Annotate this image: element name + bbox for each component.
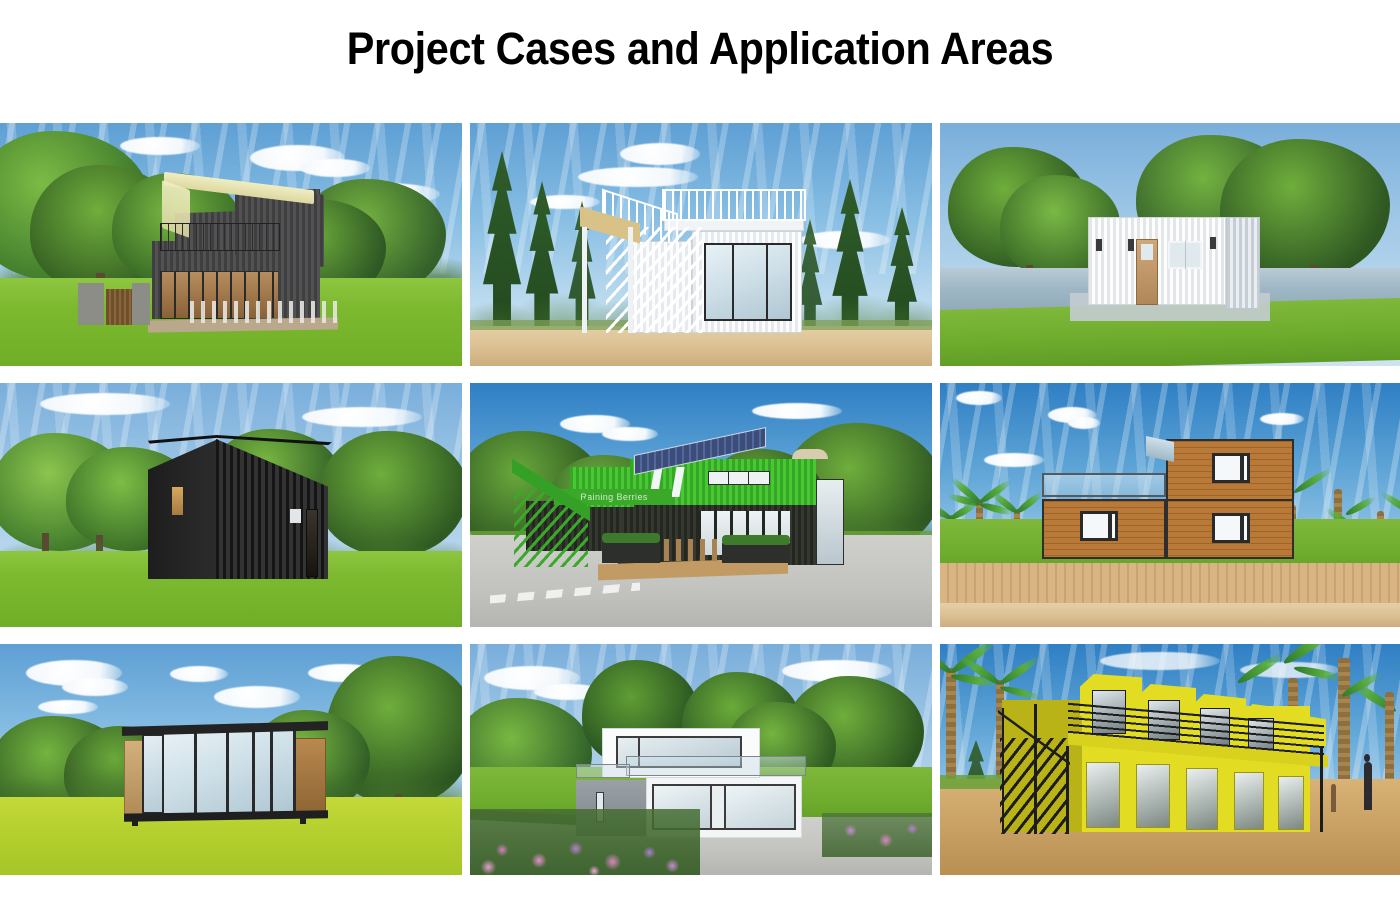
wall-fixture [1128,239,1134,251]
container-end-doors [1226,217,1260,309]
support-column [1066,746,1069,834]
gallery-image-4[interactable] [0,383,462,627]
window-mullion [1185,241,1186,269]
cloud [1260,413,1304,425]
cloud [302,407,422,427]
glass-wall-right [724,784,796,830]
planter-greenery [602,533,660,543]
window-upper [1212,453,1250,483]
gallery-image-9[interactable] [940,644,1400,875]
cloud [956,391,1002,405]
foot [300,816,306,824]
corner-glass [142,734,164,814]
glass-mullion [226,730,229,814]
scene-black-gable-house [0,383,462,627]
cloud [602,427,658,441]
door-mullion [766,243,768,321]
window-lower-right [1212,513,1250,543]
scene-glass-prefab-house [0,644,462,875]
foot [132,818,138,826]
ground-window [1086,762,1120,828]
wall-fixture [1096,239,1102,251]
terrace-railing-left [576,764,630,778]
ribbon-window [708,471,770,485]
cafe-chairs [664,539,720,561]
scene-container-cafe: Raining Berries [470,383,932,627]
cloud [214,686,300,708]
scene-container-office-unit [940,123,1400,366]
stair-tower-glass [816,479,844,565]
staircase [606,227,702,333]
gallery-image-1[interactable] [0,123,462,366]
window-small [290,509,301,523]
stair-column [1034,704,1037,834]
terrace-glass-railing [1042,473,1166,497]
flower-bed-right [822,813,932,857]
planter-box [722,543,790,563]
project-gallery-grid: Raining Berries [0,123,1400,883]
terrace-railing [160,223,280,251]
ground-window [1136,764,1170,828]
window-mullion [748,471,749,485]
person-figure [1364,762,1372,810]
sand [940,603,1400,627]
outdoor-seating [190,301,340,323]
person-head [1364,754,1370,762]
cloud [578,167,698,187]
cloud [984,453,1044,467]
ground-window [1186,768,1218,830]
ground-window [1234,772,1264,830]
support-column [582,227,587,333]
glass-mullion [270,730,273,814]
scene-container-house-rooftop [470,123,932,366]
window-mullion [1240,453,1244,483]
gallery-image-3[interactable] [940,123,1400,366]
scene-white-modular-villa [470,644,932,875]
window-mullion [1240,513,1244,543]
gallery-image-5[interactable]: Raining Berries [470,383,932,627]
hydrangea-bed [470,809,700,875]
cloud [620,143,700,165]
gallery-image-8[interactable] [470,644,932,875]
cloud [1068,417,1100,429]
gallery-image-2[interactable] [470,123,932,366]
door-mullion [732,243,734,321]
scene-wood-villa [940,383,1400,627]
window-mullion [1108,511,1112,541]
entry-door [710,784,726,830]
support-column [1320,748,1323,832]
scene-yellow-block [940,644,1400,875]
glass-mullion [252,730,255,814]
cloud [38,700,98,714]
firewood-stack [78,283,104,325]
glass-mullion [194,730,197,814]
planter-box [602,541,660,563]
wood-deck [940,563,1400,607]
ground-window [1278,776,1304,830]
window-mullion [728,471,729,485]
window [172,487,183,515]
cloud [62,678,128,696]
gallery-image-7[interactable] [0,644,462,875]
cloud [170,666,228,682]
page-root: Project Cases and Application Areas [0,0,1400,900]
window-lower-left [1080,511,1118,541]
cloud [120,137,200,155]
cloud [752,403,842,419]
gallery-image-6[interactable] [940,383,1400,627]
door-window [1141,244,1153,260]
terrace-glass-railing [626,756,806,776]
entry-door [306,509,318,577]
glass-frame [704,243,792,321]
wall-fixture [1210,237,1216,249]
page-title: Project Cases and Application Areas [56,26,1344,71]
planter-greenery [722,535,790,545]
cloud [40,393,170,415]
firewood-stack [132,283,150,325]
cloud [1100,652,1220,670]
patio-umbrella [792,449,828,459]
person-figure [1331,784,1336,812]
scene-container-restaurant [0,123,462,366]
support-column [628,227,633,333]
rooftop-railing [662,189,806,221]
cloud [300,159,370,177]
